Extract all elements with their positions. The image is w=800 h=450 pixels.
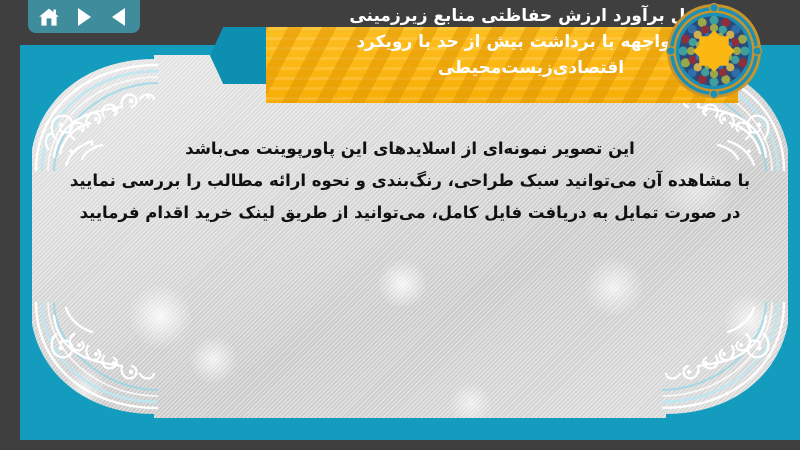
body-line-3: در صورت تمایل به دریافت فایل کامل، می‌تو… [48,197,772,229]
body-line-2: با مشاهده آن می‌توانید سبک طراحی، رنگ‌بن… [48,165,772,197]
home-icon [38,7,60,27]
slide-content-area [32,55,788,418]
previous-slide-button[interactable] [105,4,133,30]
slide-canvas[interactable]: این تصویر نمونه‌ای از اسلایدهای این پاور… [20,45,800,440]
slide-viewer: این تصویر نمونه‌ای از اسلایدهای این پاور… [0,0,800,450]
triangle-right-icon [78,8,91,26]
slide-body-text: این تصویر نمونه‌ای از اسلایدهای این پاور… [48,133,772,230]
body-line-1: این تصویر نمونه‌ای از اسلایدهای این پاور… [48,133,772,165]
navigation-toolbar [28,0,140,33]
next-slide-button[interactable] [70,4,98,30]
home-button[interactable] [35,4,63,30]
triangle-left-icon [112,8,125,26]
persian-medallion-ornament-icon [665,2,763,100]
